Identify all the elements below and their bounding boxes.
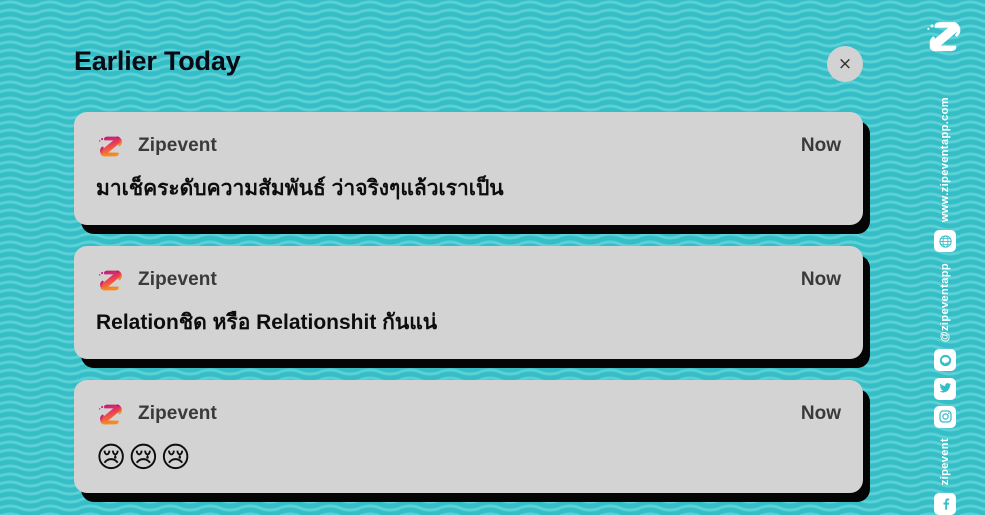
twitter-icon[interactable] — [934, 378, 956, 400]
notification-header: Zipevent Now — [96, 129, 841, 163]
notification-message: 😢😢😢 — [96, 443, 841, 473]
app-name: Zipevent — [138, 403, 217, 425]
facebook-icon[interactable] — [934, 493, 956, 515]
zipevent-logo-icon — [96, 131, 126, 161]
notification-header: Zipevent Now — [96, 263, 841, 297]
notification-card[interactable]: Zipevent Now Relationชิด หรือ Relationsh… — [74, 246, 863, 359]
website-url[interactable]: www.zipeventapp.com — [939, 97, 951, 222]
instagram-icon[interactable] — [934, 406, 956, 428]
close-icon: × — [838, 56, 852, 73]
zipevent-z-logo-icon — [919, 16, 971, 55]
screenshot-root: Earlier Today × — [0, 0, 985, 515]
notification-card[interactable]: Zipevent Now มาเช็คระดับความสัมพันธ์ ว่า… — [74, 112, 863, 225]
notification-time: Now — [801, 269, 841, 291]
line-icon[interactable] — [934, 349, 956, 371]
notification-message: Relationชิด หรือ Relationshit กันแน่ — [96, 309, 841, 339]
notification-card[interactable]: Zipevent Now 😢😢😢 — [74, 380, 863, 493]
brand-sidebar: www.zipeventapp.com @zipeventapp — [905, 0, 985, 515]
zipevent-logo-icon — [96, 265, 126, 295]
globe-icon[interactable] — [934, 230, 956, 252]
notification-header: Zipevent Now — [96, 397, 841, 431]
app-name: Zipevent — [138, 135, 217, 157]
notification-time: Now — [801, 403, 841, 425]
notification-message: มาเช็คระดับความสัมพันธ์ ว่าจริงๆแล้วเราเ… — [96, 175, 841, 205]
page-title: Earlier Today — [74, 46, 240, 77]
app-name: Zipevent — [138, 269, 217, 291]
notification-list: Zipevent Now มาเช็คระดับความสัมพันธ์ ว่า… — [74, 112, 863, 514]
notification-panel: Earlier Today × — [0, 0, 905, 515]
close-button[interactable]: × — [827, 46, 863, 82]
facebook-handle[interactable]: zipevent — [939, 438, 951, 485]
social-handle[interactable]: @zipeventapp — [939, 263, 951, 342]
zipevent-logo-icon — [96, 399, 126, 429]
notification-time: Now — [801, 135, 841, 157]
